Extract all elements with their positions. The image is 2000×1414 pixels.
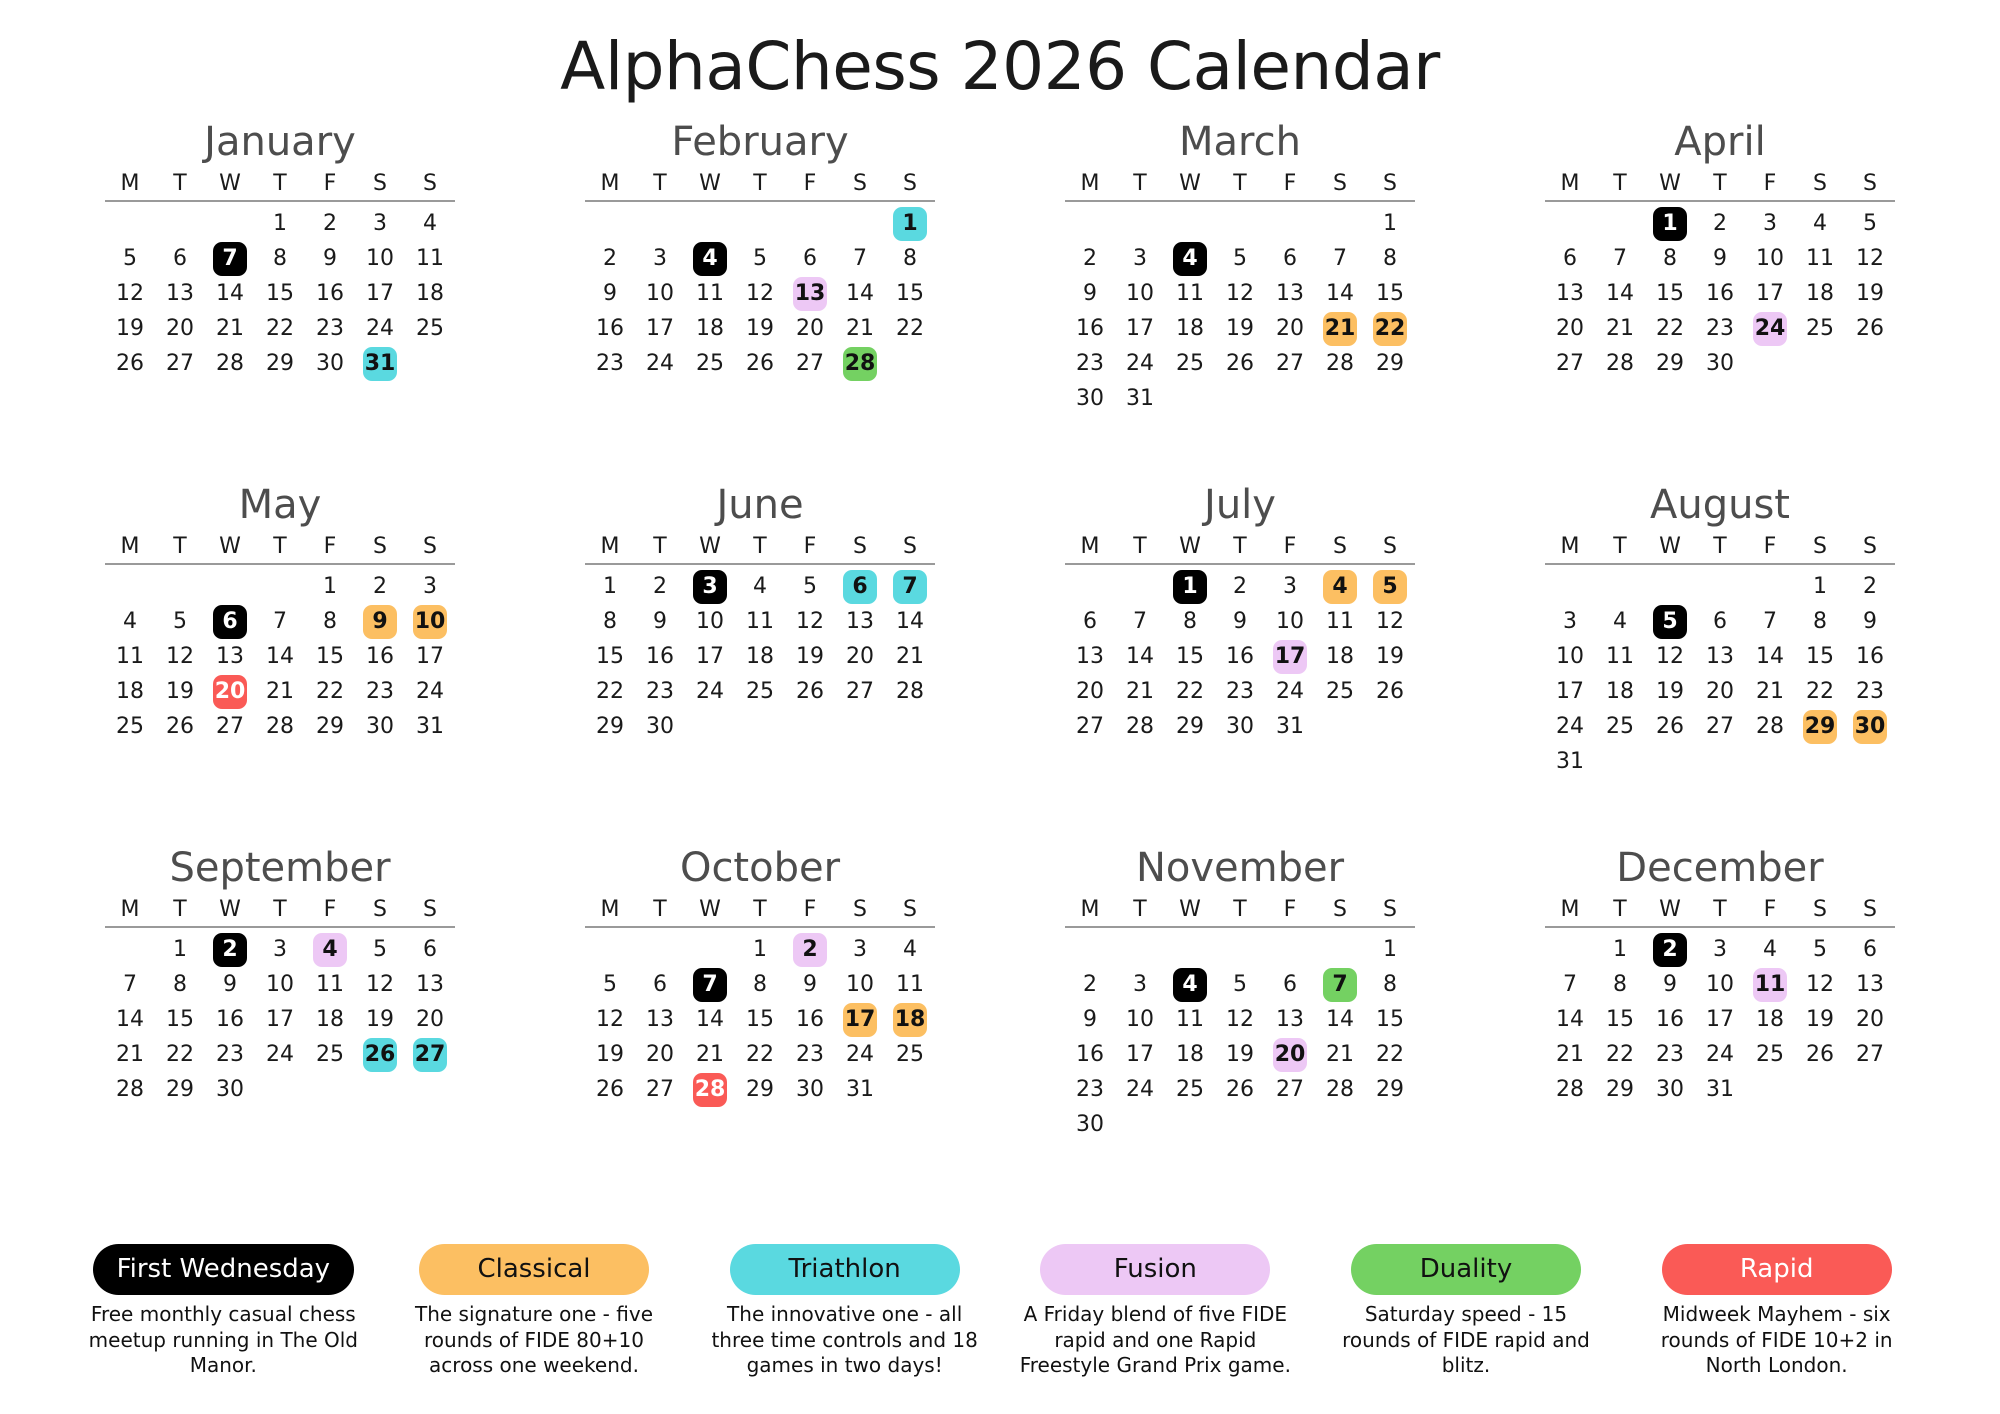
weekday-header: T: [1695, 897, 1745, 926]
event-day-cell[interactable]: 22: [1365, 311, 1415, 346]
day-cell: 1: [735, 932, 785, 967]
day-cell: 18: [685, 311, 735, 346]
day-cell: 20: [1065, 674, 1115, 709]
day-number: 2: [363, 570, 397, 604]
event-day-cell[interactable]: 24: [1745, 311, 1795, 346]
day-number: 21: [1603, 312, 1637, 346]
weekday-header: T: [255, 534, 305, 563]
weekday-header: W: [205, 897, 255, 926]
day-cell: 16: [305, 276, 355, 311]
day-number: 5: [1223, 242, 1257, 276]
day-number: 13: [1073, 640, 1107, 674]
day-number: 26: [363, 1038, 397, 1072]
legend-pill: Classical: [419, 1244, 649, 1295]
day-number: 2: [1073, 242, 1107, 276]
day-number: 25: [743, 675, 777, 709]
day-number: 21: [893, 640, 927, 674]
event-day-cell[interactable]: 4: [1165, 967, 1215, 1002]
event-day-cell[interactable]: 5: [1645, 604, 1695, 639]
day-number: 21: [213, 312, 247, 346]
event-day-cell[interactable]: 4: [685, 241, 735, 276]
day-cell: 29: [735, 1072, 785, 1107]
event-day-cell[interactable]: 2: [1645, 932, 1695, 967]
day-number: 1: [163, 933, 197, 967]
day-cell: 22: [585, 674, 635, 709]
month-block: OctoberMTWTFSS12345678910111213141516171…: [520, 839, 1000, 1202]
day-cell: 29: [1165, 709, 1215, 744]
day-cell: 3: [1745, 206, 1795, 241]
day-cell: 10: [1115, 1002, 1165, 1037]
day-number: 11: [1753, 968, 1787, 1002]
day-cell: 30: [305, 346, 355, 381]
day-cell: 5: [1795, 932, 1845, 967]
weekday-header: F: [1745, 171, 1795, 200]
day-number: 22: [593, 675, 627, 709]
day-cell: 5: [1215, 967, 1265, 1002]
event-day-cell[interactable]: 20: [1265, 1037, 1315, 1072]
day-cell: 15: [1365, 1002, 1415, 1037]
day-number: 28: [1603, 347, 1637, 381]
day-number: 2: [1703, 207, 1737, 241]
day-number: 10: [1753, 242, 1787, 276]
event-day-cell[interactable]: 5: [1365, 569, 1415, 604]
day-number: 8: [743, 968, 777, 1002]
header-divider: [585, 563, 935, 565]
event-day-cell[interactable]: 4: [1165, 241, 1215, 276]
day-number: 23: [1703, 312, 1737, 346]
event-day-cell[interactable]: 10: [405, 604, 455, 639]
day-cell: 25: [1795, 311, 1845, 346]
empty-day-cell: [1595, 206, 1645, 241]
event-day-cell[interactable]: 7: [685, 967, 735, 1002]
day-cell: 12: [1645, 639, 1695, 674]
day-cell: 27: [1695, 709, 1745, 744]
legend-item[interactable]: FusionA Friday blend of five FIDE rapid …: [1012, 1244, 1299, 1414]
day-number: 12: [1223, 1003, 1257, 1037]
day-cell: 13: [1695, 639, 1745, 674]
weekday-header: W: [205, 534, 255, 563]
day-cell: 30: [785, 1072, 835, 1107]
day-cell: 14: [1315, 1002, 1365, 1037]
day-number: 4: [1173, 968, 1207, 1002]
weekday-header: S: [1315, 171, 1365, 200]
weekday-header: T: [1115, 897, 1165, 926]
event-day-cell[interactable]: 29: [1795, 709, 1845, 744]
day-grid: 1234567891011121314151617181920212223242…: [1065, 569, 1415, 744]
day-number: 6: [213, 605, 247, 639]
day-cell: 19: [1215, 1037, 1265, 1072]
day-number: 9: [643, 605, 677, 639]
day-cell: 11: [1165, 276, 1215, 311]
day-cell: 1: [255, 206, 305, 241]
day-number: 1: [263, 207, 297, 241]
weekday-header: M: [1545, 534, 1595, 563]
day-number: 24: [693, 675, 727, 709]
event-day-cell[interactable]: 18: [885, 1002, 935, 1037]
day-number: 17: [1553, 675, 1587, 709]
day-cell: 6: [1265, 241, 1315, 276]
weekday-header: M: [1065, 171, 1115, 200]
day-cell: 26: [1845, 311, 1895, 346]
day-number: 15: [313, 640, 347, 674]
month-name: July: [1000, 482, 1480, 528]
event-day-cell[interactable]: 17: [835, 1002, 885, 1037]
event-day-cell[interactable]: 3: [685, 569, 735, 604]
empty-day-cell: [105, 932, 155, 967]
event-day-cell[interactable]: 7: [885, 569, 935, 604]
empty-day-cell: [1695, 569, 1745, 604]
event-day-cell[interactable]: 2: [785, 932, 835, 967]
day-cell: 12: [1795, 967, 1845, 1002]
day-number: 13: [213, 640, 247, 674]
day-number: 18: [1323, 640, 1357, 674]
day-cell: 16: [205, 1002, 255, 1037]
day-cell: 17: [685, 639, 735, 674]
day-cell: 27: [1265, 1072, 1315, 1107]
day-number: 23: [643, 675, 677, 709]
day-number: 10: [843, 968, 877, 1002]
day-number: 15: [1653, 277, 1687, 311]
day-number: 9: [593, 277, 627, 311]
day-cell: 4: [105, 604, 155, 639]
header-divider: [1065, 926, 1415, 928]
weekday-header: F: [785, 171, 835, 200]
legend-item[interactable]: RapidMidweek Mayhem - six rounds of FIDE…: [1633, 1244, 1920, 1414]
day-number: 4: [1323, 570, 1357, 604]
day-number: 31: [1553, 745, 1587, 779]
header-divider: [585, 200, 935, 202]
day-number: 24: [413, 675, 447, 709]
day-cell: 14: [1315, 276, 1365, 311]
event-day-cell[interactable]: 7: [205, 241, 255, 276]
day-number: 7: [1553, 968, 1587, 1002]
day-cell: 22: [1645, 311, 1695, 346]
weekday-header: T: [1595, 897, 1645, 926]
day-cell: 9: [785, 967, 835, 1002]
day-number: 10: [1123, 277, 1157, 311]
day-cell: 16: [1845, 639, 1895, 674]
weekday-header: F: [1265, 897, 1315, 926]
day-cell: 21: [255, 674, 305, 709]
day-cell: 6: [635, 967, 685, 1002]
event-day-cell[interactable]: 6: [205, 604, 255, 639]
day-cell: 24: [255, 1037, 305, 1072]
day-number: 19: [1853, 277, 1887, 311]
event-day-cell[interactable]: 6: [835, 569, 885, 604]
event-day-cell[interactable]: 13: [785, 276, 835, 311]
day-cell: 26: [585, 1072, 635, 1107]
day-number: 2: [593, 242, 627, 276]
empty-day-cell: [1265, 932, 1315, 967]
day-number: 29: [263, 347, 297, 381]
day-cell: 23: [1215, 674, 1265, 709]
day-grid: 1234567891011121314151617181920212223242…: [105, 569, 455, 744]
day-number: 27: [1273, 347, 1307, 381]
day-number: 5: [1223, 968, 1257, 1002]
day-number: 2: [793, 933, 827, 967]
day-number: 17: [1123, 1038, 1157, 1072]
day-number: 22: [1173, 675, 1207, 709]
day-grid: 1234567891011121314151617181920212223242…: [105, 206, 455, 381]
event-day-cell[interactable]: 4: [1315, 569, 1365, 604]
day-number: 29: [163, 1073, 197, 1107]
day-cell: 4: [405, 206, 455, 241]
day-number: 16: [1703, 277, 1737, 311]
day-number: 6: [1273, 968, 1307, 1002]
day-number: 24: [1273, 675, 1307, 709]
empty-day-cell: [635, 932, 685, 967]
day-cell: 25: [885, 1037, 935, 1072]
day-number: 7: [113, 968, 147, 1002]
legend-pill: Duality: [1351, 1244, 1581, 1295]
day-cell: 22: [1595, 1037, 1645, 1072]
weekday-header: F: [1745, 897, 1795, 926]
day-number: 9: [793, 968, 827, 1002]
month-block: AprilMTWTFSS1234567891011121314151617181…: [1480, 113, 1960, 476]
day-cell: 22: [1365, 1037, 1415, 1072]
day-number: 3: [1123, 242, 1157, 276]
day-number: 27: [1073, 710, 1107, 744]
day-cell: 19: [1845, 276, 1895, 311]
empty-day-cell: [585, 206, 635, 241]
weekday-header: M: [1545, 897, 1595, 926]
legend-description: The signature one - five rounds of FIDE …: [391, 1302, 678, 1379]
month-name: September: [40, 845, 520, 891]
day-cell: 14: [1115, 639, 1165, 674]
day-cell: 25: [305, 1037, 355, 1072]
legend-description: The innovative one - all three time cont…: [701, 1302, 988, 1379]
day-cell: 2: [635, 569, 685, 604]
weekday-header: T: [155, 534, 205, 563]
legend-item[interactable]: DualitySaturday speed - 15 rounds of FID…: [1323, 1244, 1610, 1414]
day-cell: 4: [1595, 604, 1645, 639]
day-number: 14: [1753, 640, 1787, 674]
day-cell: 9: [305, 241, 355, 276]
day-cell: 26: [1795, 1037, 1845, 1072]
day-cell: 17: [1115, 311, 1165, 346]
day-number: 6: [1853, 933, 1887, 967]
day-number: 9: [1703, 242, 1737, 276]
day-number: 6: [643, 968, 677, 1002]
day-number: 7: [1323, 968, 1357, 1002]
day-number: 12: [163, 640, 197, 674]
day-number: 28: [263, 710, 297, 744]
weekday-header: W: [1645, 897, 1695, 926]
weekday-header: S: [835, 171, 885, 200]
day-cell: 23: [1695, 311, 1745, 346]
day-number: 16: [793, 1003, 827, 1037]
day-cell: 12: [1365, 604, 1415, 639]
day-cell: 24: [355, 311, 405, 346]
day-number: 19: [1803, 1003, 1837, 1037]
day-cell: 30: [1065, 381, 1115, 416]
event-day-cell[interactable]: 27: [405, 1037, 455, 1072]
day-cell: 9: [1645, 967, 1695, 1002]
day-cell: 18: [105, 674, 155, 709]
day-number: 13: [1553, 277, 1587, 311]
event-day-cell[interactable]: 9: [355, 604, 405, 639]
event-day-cell[interactable]: 11: [1745, 967, 1795, 1002]
day-number: 14: [843, 277, 877, 311]
day-cell: 3: [1115, 967, 1165, 1002]
day-cell: 5: [1845, 206, 1895, 241]
day-cell: 27: [1265, 346, 1315, 381]
event-day-cell[interactable]: 26: [355, 1037, 405, 1072]
day-number: 22: [263, 312, 297, 346]
day-number: 6: [1273, 242, 1307, 276]
day-cell: 10: [1265, 604, 1315, 639]
day-number: 8: [1373, 242, 1407, 276]
day-number: 4: [413, 207, 447, 241]
day-cell: 6: [1695, 604, 1745, 639]
day-number: 30: [1653, 1073, 1687, 1107]
day-cell: 6: [405, 932, 455, 967]
day-number: 11: [1323, 605, 1357, 639]
day-number: 22: [1603, 1038, 1637, 1072]
event-day-cell[interactable]: 30: [1845, 709, 1895, 744]
month-block: MarchMTWTFSS1234567891011121314151617181…: [1000, 113, 1480, 476]
legend-pill: Rapid: [1662, 1244, 1892, 1295]
day-number: 20: [1273, 312, 1307, 346]
empty-day-cell: [1115, 206, 1165, 241]
day-cell: 30: [205, 1072, 255, 1107]
day-cell: 20: [405, 1002, 455, 1037]
event-day-cell[interactable]: 2: [205, 932, 255, 967]
day-cell: 24: [685, 674, 735, 709]
legend-item[interactable]: First WednesdayFree monthly casual chess…: [80, 1244, 367, 1414]
day-grid: 1234567891011121314151617181920212223242…: [585, 206, 935, 381]
day-cell: 16: [585, 311, 635, 346]
day-number: 29: [1373, 347, 1407, 381]
day-cell: 5: [585, 967, 635, 1002]
weekday-header: T: [1215, 534, 1265, 563]
day-number: 8: [893, 242, 927, 276]
day-number: 20: [213, 675, 247, 709]
day-cell: 1: [1795, 569, 1845, 604]
header-divider: [1545, 200, 1895, 202]
day-number: 18: [1173, 312, 1207, 346]
day-cell: 9: [1065, 276, 1115, 311]
event-day-cell[interactable]: 31: [355, 346, 405, 381]
day-cell: 3: [255, 932, 305, 967]
empty-day-cell: [735, 206, 785, 241]
weekday-header: W: [1165, 171, 1215, 200]
day-number: 31: [1703, 1073, 1737, 1107]
day-cell: 27: [785, 346, 835, 381]
day-cell: 17: [1745, 276, 1795, 311]
day-cell: 28: [885, 674, 935, 709]
day-cell: 30: [1645, 1072, 1695, 1107]
weekday-header: T: [1115, 171, 1165, 200]
day-cell: 3: [1115, 241, 1165, 276]
day-number: 15: [1803, 640, 1837, 674]
empty-day-cell: [635, 206, 685, 241]
event-day-cell[interactable]: 21: [1315, 311, 1365, 346]
day-number: 13: [1273, 1003, 1307, 1037]
header-divider: [105, 926, 455, 928]
day-number: 14: [1603, 277, 1637, 311]
event-day-cell[interactable]: 1: [885, 206, 935, 241]
weekday-header: W: [685, 897, 735, 926]
day-cell: 8: [155, 967, 205, 1002]
day-number: 26: [1373, 675, 1407, 709]
event-day-cell[interactable]: 20: [205, 674, 255, 709]
event-day-cell[interactable]: 1: [1645, 206, 1695, 241]
legend-item[interactable]: ClassicalThe signature one - five rounds…: [391, 1244, 678, 1414]
day-cell: 9: [1845, 604, 1895, 639]
day-number: 4: [113, 605, 147, 639]
weekday-header: S: [885, 171, 935, 200]
day-number: 27: [413, 1038, 447, 1072]
event-day-cell[interactable]: 4: [305, 932, 355, 967]
day-number: 27: [793, 347, 827, 381]
event-day-cell[interactable]: 28: [835, 346, 885, 381]
weekday-header: S: [1845, 534, 1895, 563]
day-grid: 1234567891011121314151617181920212223242…: [1545, 206, 1895, 381]
day-cell: 19: [105, 311, 155, 346]
legend-item[interactable]: TriathlonThe innovative one - all three …: [701, 1244, 988, 1414]
weekday-header-row: MTWTFSS: [585, 171, 935, 200]
weekday-header: S: [1315, 897, 1365, 926]
weekday-header-row: MTWTFSS: [585, 534, 935, 563]
day-cell: 15: [255, 276, 305, 311]
day-cell: 19: [355, 1002, 405, 1037]
day-number: 14: [1123, 640, 1157, 674]
day-cell: 11: [105, 639, 155, 674]
day-number: 9: [363, 605, 397, 639]
day-cell: 16: [1695, 276, 1745, 311]
day-cell: 29: [585, 709, 635, 744]
day-cell: 27: [1545, 346, 1595, 381]
day-cell: 13: [205, 639, 255, 674]
event-day-cell[interactable]: 28: [685, 1072, 735, 1107]
day-number: 12: [363, 968, 397, 1002]
day-cell: 9: [635, 604, 685, 639]
day-number: 12: [1803, 968, 1837, 1002]
day-cell: 25: [1745, 1037, 1795, 1072]
day-cell: 17: [1695, 1002, 1745, 1037]
day-cell: 4: [1795, 206, 1845, 241]
day-number: 18: [1753, 1003, 1787, 1037]
day-number: 21: [1323, 1038, 1357, 1072]
day-number: 21: [843, 312, 877, 346]
event-day-cell[interactable]: 7: [1315, 967, 1365, 1002]
day-number: 28: [1323, 347, 1357, 381]
day-number: 2: [1073, 968, 1107, 1002]
weekday-header: M: [585, 897, 635, 926]
empty-day-cell: [1215, 932, 1265, 967]
day-cell: 6: [1545, 241, 1595, 276]
day-cell: 7: [1545, 967, 1595, 1002]
day-number: 24: [1753, 312, 1787, 346]
day-cell: 31: [405, 709, 455, 744]
day-number: 4: [1173, 242, 1207, 276]
day-cell: 7: [105, 967, 155, 1002]
empty-day-cell: [1215, 206, 1265, 241]
weekday-header-row: MTWTFSS: [105, 171, 455, 200]
day-number: 11: [1803, 242, 1837, 276]
day-number: 22: [1373, 1038, 1407, 1072]
event-day-cell[interactable]: 17: [1265, 639, 1315, 674]
header-divider: [1065, 563, 1415, 565]
day-cell: 22: [255, 311, 305, 346]
event-day-cell[interactable]: 1: [1165, 569, 1215, 604]
day-cell: 20: [1845, 1002, 1895, 1037]
day-number: 9: [313, 242, 347, 276]
month-block: JanuaryMTWTFSS12345678910111213141516171…: [40, 113, 520, 476]
weekday-header: S: [885, 534, 935, 563]
day-cell: 9: [1695, 241, 1745, 276]
